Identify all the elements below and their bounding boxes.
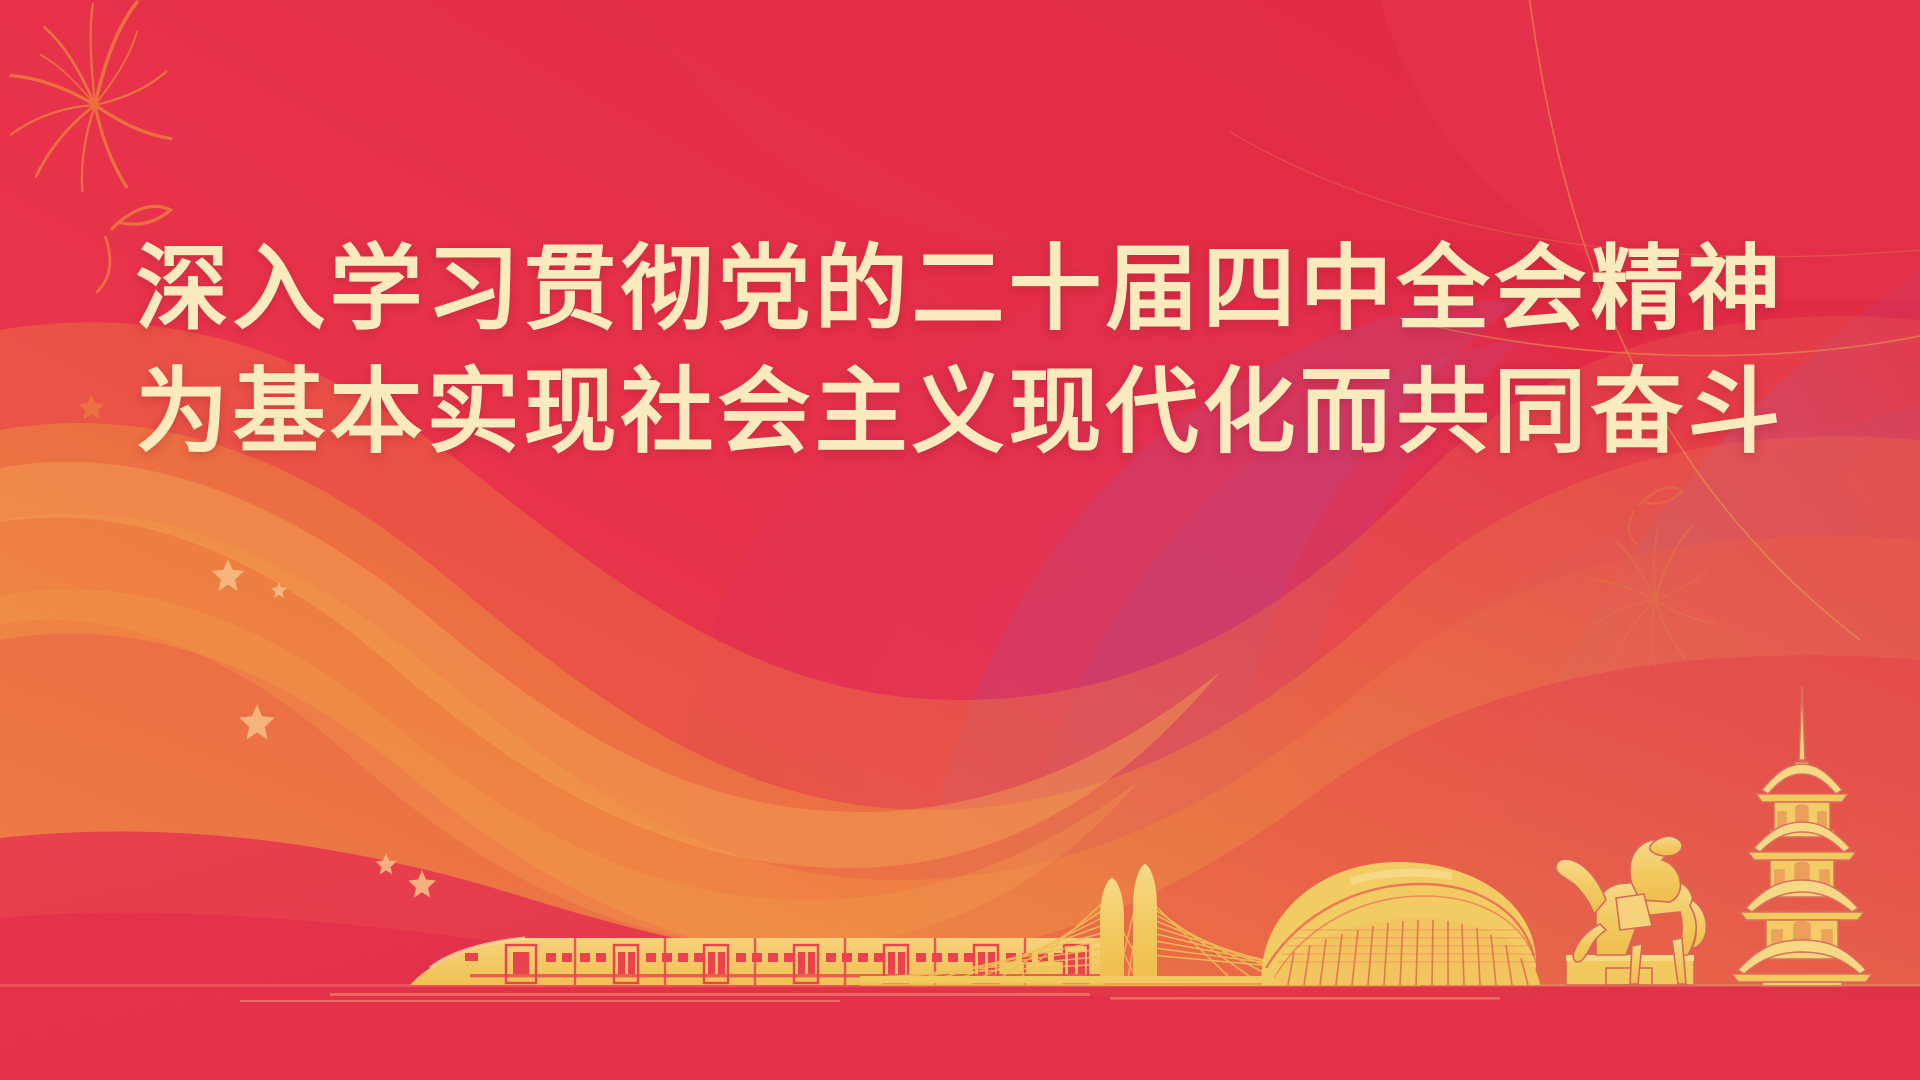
firework-decorations xyxy=(0,0,1920,1080)
star-icon xyxy=(239,704,274,739)
seven-tier-pagoda-icon xyxy=(1732,686,1872,986)
star-icon xyxy=(375,853,396,874)
high-speed-train-icon xyxy=(240,938,1500,1002)
cable-stayed-bridge-icon xyxy=(860,864,1420,986)
title-line-2: 为基本实现社会主义现代化而共同奋斗 xyxy=(0,351,1920,474)
pagoda-lower-body xyxy=(0,0,1920,1080)
oval-stadium-icon xyxy=(1262,862,1540,985)
background-artwork xyxy=(0,0,1920,1080)
firework-right-icon xyxy=(1591,487,1714,667)
propaganda-banner: 深入学习贯彻党的二十届四中全会精神 为基本实现社会主义现代化而共同奋斗 xyxy=(0,0,1920,1080)
skyline-landmarks xyxy=(0,0,1920,1080)
star-icon xyxy=(408,870,436,898)
star-icon xyxy=(212,559,244,591)
equestrian-statue-icon xyxy=(1550,836,1706,985)
star-decorations xyxy=(0,0,1920,1080)
title-line-1: 深入学习贯彻党的二十届四中全会精神 xyxy=(0,228,1920,351)
page-title: 深入学习贯彻党的二十届四中全会精神 为基本实现社会主义现代化而共同奋斗 xyxy=(0,228,1920,474)
star-icon xyxy=(271,582,287,598)
